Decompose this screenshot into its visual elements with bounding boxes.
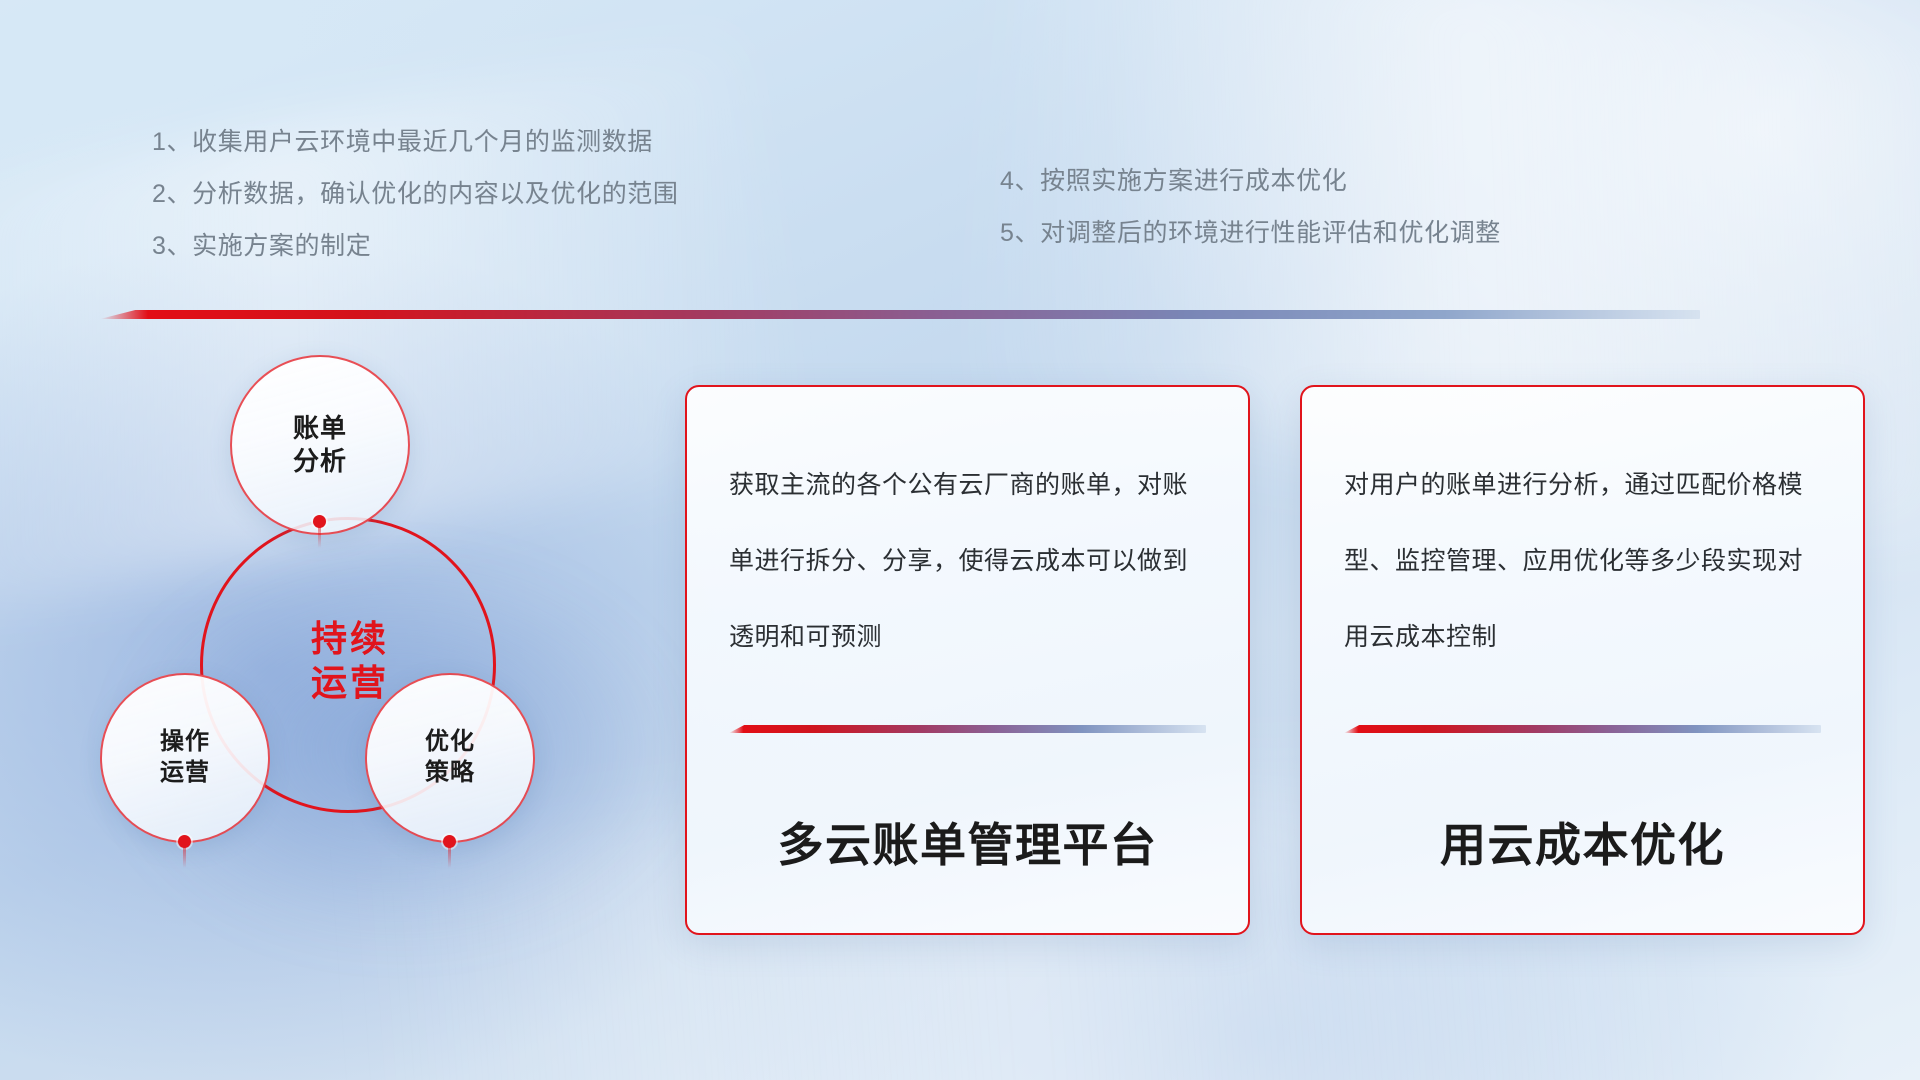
card-description: 获取主流的各个公有云厂商的账单，对账单进行拆分、分享，使得云成本可以做到透明和可… xyxy=(729,447,1206,699)
list-item-number: 1、 xyxy=(152,128,192,156)
card-title: 多云账单管理平台 xyxy=(729,809,1206,875)
card-multi-cloud-bill-platform[interactable]: 获取主流的各个公有云厂商的账单，对账单进行拆分、分享，使得云成本可以做到透明和可… xyxy=(685,385,1250,935)
diagram-center-label: 持续 运营 xyxy=(255,617,445,705)
list-item: 1、收集用户云环境中最近几个月的监测数据 xyxy=(152,116,679,168)
diagram-node-dot-left xyxy=(178,835,191,848)
list-item-label: 按照实施方案进行成本优化 xyxy=(1040,167,1347,195)
list-item-label: 对调整后的环境进行性能评估和优化调整 xyxy=(1040,219,1501,247)
list-item: 5、对调整后的环境进行性能评估和优化调整 xyxy=(1000,207,1501,259)
section-divider xyxy=(100,310,1700,319)
list-item-label: 分析数据，确认优化的内容以及优化的范围 xyxy=(192,180,678,208)
list-item: 4、按照实施方案进行成本优化 xyxy=(1000,155,1501,207)
list-item-label: 收集用户云环境中最近几个月的监测数据 xyxy=(192,128,653,156)
list-item: 3、实施方案的制定 xyxy=(152,220,679,272)
list-item-number: 5、 xyxy=(1000,219,1040,247)
diagram-node-dot-right xyxy=(443,835,456,848)
card-divider xyxy=(1344,725,1821,733)
card-divider xyxy=(729,725,1206,733)
bubble-label-line1: 优化 xyxy=(425,727,475,758)
center-label-line1: 持续 xyxy=(255,617,445,661)
bubble-label-line1: 操作 xyxy=(160,727,210,758)
slide-canvas: 1、收集用户云环境中最近几个月的监测数据 2、分析数据，确认优化的内容以及优化的… xyxy=(0,0,1920,1080)
list-item-label: 实施方案的制定 xyxy=(192,232,371,260)
bubble-label-line2: 分析 xyxy=(293,445,347,478)
bubble-label-line2: 策略 xyxy=(425,758,475,789)
steps-left-column: 1、收集用户云环境中最近几个月的监测数据 2、分析数据，确认优化的内容以及优化的… xyxy=(152,116,679,272)
card-cloud-cost-optimization[interactable]: 对用户的账单进行分析，通过匹配价格模型、监控管理、应用优化等多少段实现对用云成本… xyxy=(1300,385,1865,935)
diagram-bubble-operations[interactable]: 操作 运营 xyxy=(100,673,270,843)
list-item: 2、分析数据，确认优化的内容以及优化的范围 xyxy=(152,168,679,220)
continuous-operation-diagram: 账单 分析 操作 运营 优化 策略 持续 运营 xyxy=(100,355,640,955)
bubble-label-line1: 账单 xyxy=(293,412,347,445)
card-description: 对用户的账单进行分析，通过匹配价格模型、监控管理、应用优化等多少段实现对用云成本… xyxy=(1344,447,1821,699)
steps-right-column: 4、按照实施方案进行成本优化 5、对调整后的环境进行性能评估和优化调整 xyxy=(1000,155,1501,259)
center-label-line2: 运营 xyxy=(255,661,445,705)
bubble-label-line2: 运营 xyxy=(160,758,210,789)
card-title: 用云成本优化 xyxy=(1344,809,1821,875)
diagram-bubble-bill-analysis[interactable]: 账单 分析 xyxy=(230,355,410,535)
list-item-number: 4、 xyxy=(1000,167,1040,195)
list-item-number: 2、 xyxy=(152,180,192,208)
diagram-node-dot-top xyxy=(313,515,326,528)
list-item-number: 3、 xyxy=(152,232,192,260)
